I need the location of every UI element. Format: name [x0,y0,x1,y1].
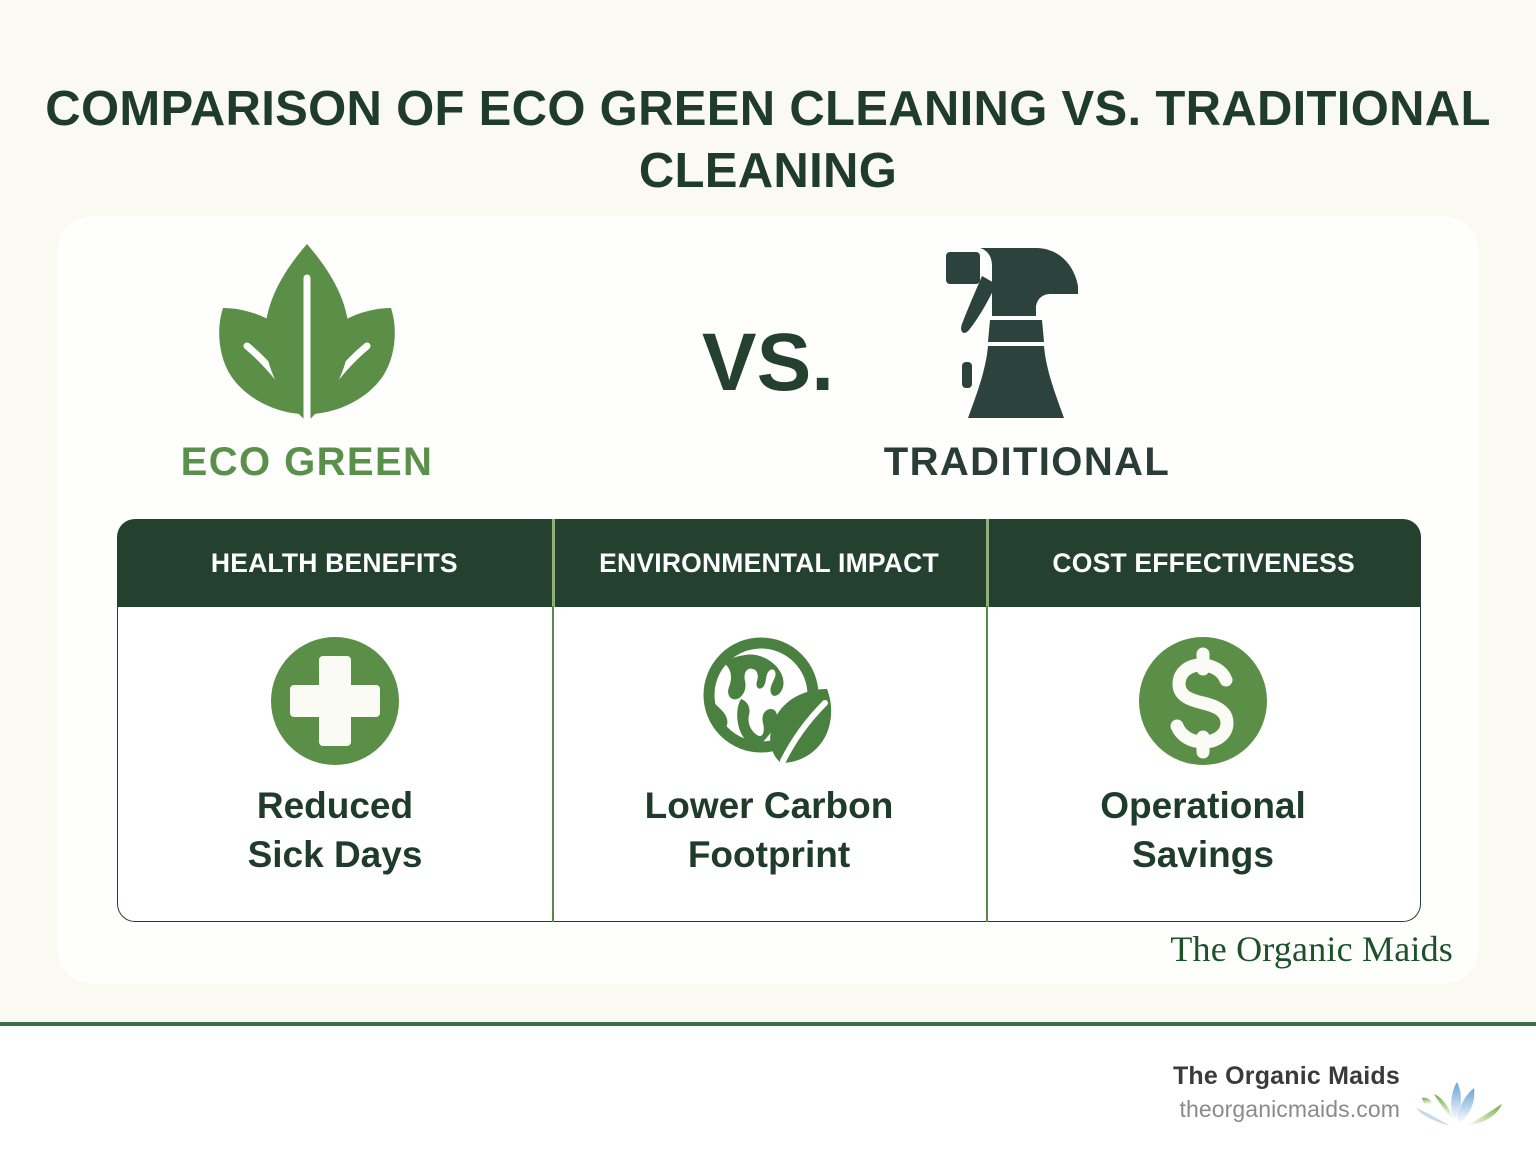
card-signature: The Organic Maids [1170,928,1453,970]
three-leaves-icon [97,222,517,432]
table-header-cost-effectiveness: COST EFFECTIVENESS [986,519,1421,607]
globe-leaf-icon [703,635,835,767]
dollar-sign-icon [1138,635,1268,767]
table-body-row: Reduced Sick Days [117,607,1421,922]
table-cell-health-benefits-text: Reduced Sick Days [248,781,423,879]
brand-eco-green-label: ECO GREEN [97,440,517,485]
table-cell-health-benefits: Reduced Sick Days [118,607,552,921]
spray-bottle-icon [817,222,1237,432]
table-cell-cost-effectiveness: Operational Savings [986,607,1420,921]
page-footer: The Organic Maids theorganicmaids.com [0,1026,1536,1154]
brand-traditional-label: TRADITIONAL [817,440,1237,485]
brand-eco-green: ECO GREEN [97,222,517,485]
infographic-poster: Comparison of Eco Green Cleaning vs. Tra… [0,0,1536,1154]
table-cell-cost-effectiveness-text: Operational Savings [1100,781,1306,879]
medical-cross-icon [270,635,400,767]
lotus-leaves-logo [1412,1076,1508,1134]
comparison-table: HEALTH BENEFITS ENVIRONMENTAL IMPACT COS… [117,519,1421,924]
table-header-row: HEALTH BENEFITS ENVIRONMENTAL IMPACT COS… [117,519,1421,607]
table-header-health-benefits: HEALTH BENEFITS [117,519,552,607]
page-title: Comparison of Eco Green Cleaning vs. Tra… [0,79,1536,202]
brands-row: ECO GREEN VS. [57,216,1479,506]
footer-brand-block: The Organic Maids theorganicmaids.com [1173,1062,1400,1123]
brand-traditional: TRADITIONAL [817,222,1237,485]
table-cell-environmental-impact-text: Lower Carbon Footprint [645,781,894,879]
table-cell-environmental-impact: Lower Carbon Footprint [552,607,986,921]
footer-brand-name: The Organic Maids [1173,1062,1400,1091]
footer-website-url[interactable]: theorganicmaids.com [1173,1096,1400,1123]
table-header-environmental-impact: ENVIRONMENTAL IMPACT [552,519,987,607]
infographic-body: Comparison of Eco Green Cleaning vs. Tra… [0,0,1536,1022]
comparison-card: ECO GREEN VS. [57,216,1479,984]
